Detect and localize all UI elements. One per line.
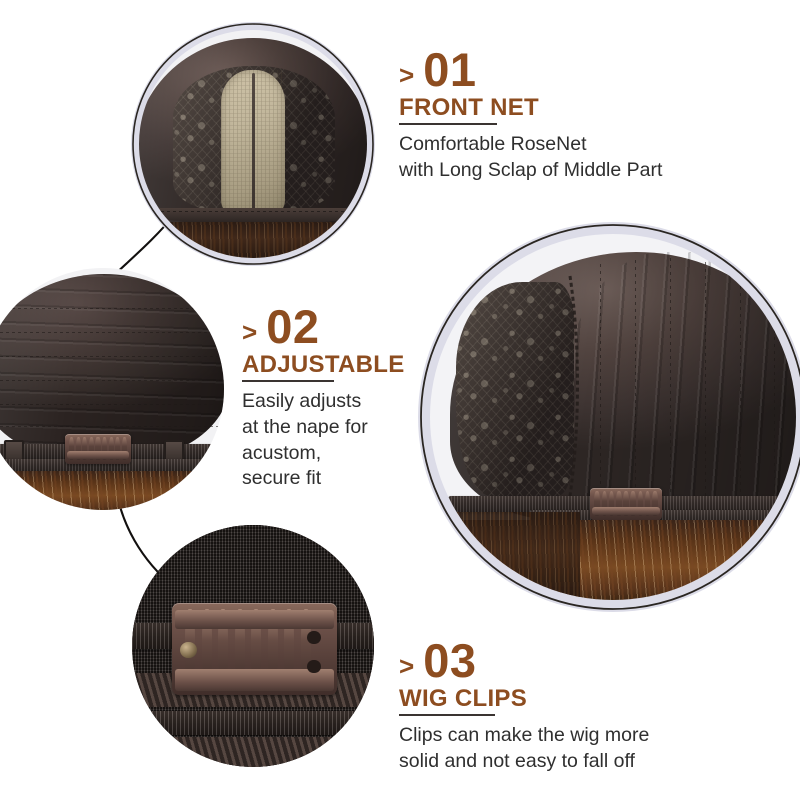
description-line: Easily adjusts	[242, 389, 492, 415]
main-wig-clip	[590, 488, 662, 520]
title-underline	[399, 123, 497, 125]
description-line: with Long Sclap of Middle Part	[399, 158, 779, 184]
clip-spine	[175, 610, 333, 628]
title-underline	[242, 380, 334, 382]
nape-wig-clip	[65, 434, 131, 464]
description-line: Clips can make the wig more	[399, 723, 779, 749]
feature-block-wig-clips: > 03 WIG CLIPS Clips can make the wig mo…	[399, 637, 779, 775]
main-cap-weft-rows	[560, 252, 796, 520]
feature-number: 02	[266, 303, 319, 350]
wig-clip-closeup	[172, 603, 337, 695]
clip-hole-top	[307, 631, 320, 644]
feature-number: 03	[423, 637, 476, 684]
title-underline	[399, 714, 495, 716]
feature-description: Comfortable RoseNet with Long Sclap of M…	[399, 132, 779, 183]
cap-band-stitch	[149, 211, 361, 212]
description-line: solid and not easy to fall off	[399, 749, 779, 775]
feature-number-line: > 02	[242, 303, 492, 350]
circle-photo-front-net	[139, 30, 367, 258]
clip-eyelet	[180, 642, 197, 659]
circle-photo-adjustable	[0, 268, 224, 510]
cap-hair-fringe	[139, 222, 367, 258]
clip-hole-bottom	[307, 660, 320, 673]
description-line: secure fit	[242, 466, 492, 492]
description-line: Comfortable RoseNet	[399, 132, 779, 158]
adjustable-hair	[0, 471, 224, 510]
feature-number: 01	[423, 46, 476, 93]
clip-teeth	[590, 488, 662, 520]
weft-band-lower	[132, 711, 374, 735]
cap-weft-rows	[0, 274, 224, 460]
chevron-icon: >	[399, 653, 414, 679]
feature-description: Easily adjusts at the nape for acustom, …	[242, 389, 492, 492]
middle-part-panel	[221, 70, 285, 218]
feature-block-adjustable: > 02 ADJUSTABLE Easily adjusts at the na…	[242, 303, 492, 492]
feature-description: Clips can make the wig more solid and no…	[399, 723, 779, 774]
feature-number-line: > 01	[399, 46, 779, 93]
description-line: at the nape for	[242, 415, 492, 441]
weft-braid-bottom	[132, 737, 374, 767]
main-hair-left-dark	[430, 512, 580, 600]
feature-title: FRONT NET	[399, 95, 779, 120]
chevron-icon: >	[399, 62, 414, 88]
feature-title: WIG CLIPS	[399, 686, 779, 711]
feature-title: ADJUSTABLE	[242, 352, 492, 377]
infographic-canvas: > 01 FRONT NET Comfortable RoseNet with …	[0, 0, 800, 800]
feature-number-line: > 03	[399, 637, 779, 684]
circle-photo-wig-clips	[132, 525, 374, 767]
feature-block-front-net: > 01 FRONT NET Comfortable RoseNet with …	[399, 46, 779, 184]
clip-base-bar	[175, 669, 333, 691]
chevron-icon: >	[242, 319, 257, 345]
description-line: acustom,	[242, 441, 492, 467]
clip-teeth	[65, 434, 131, 464]
